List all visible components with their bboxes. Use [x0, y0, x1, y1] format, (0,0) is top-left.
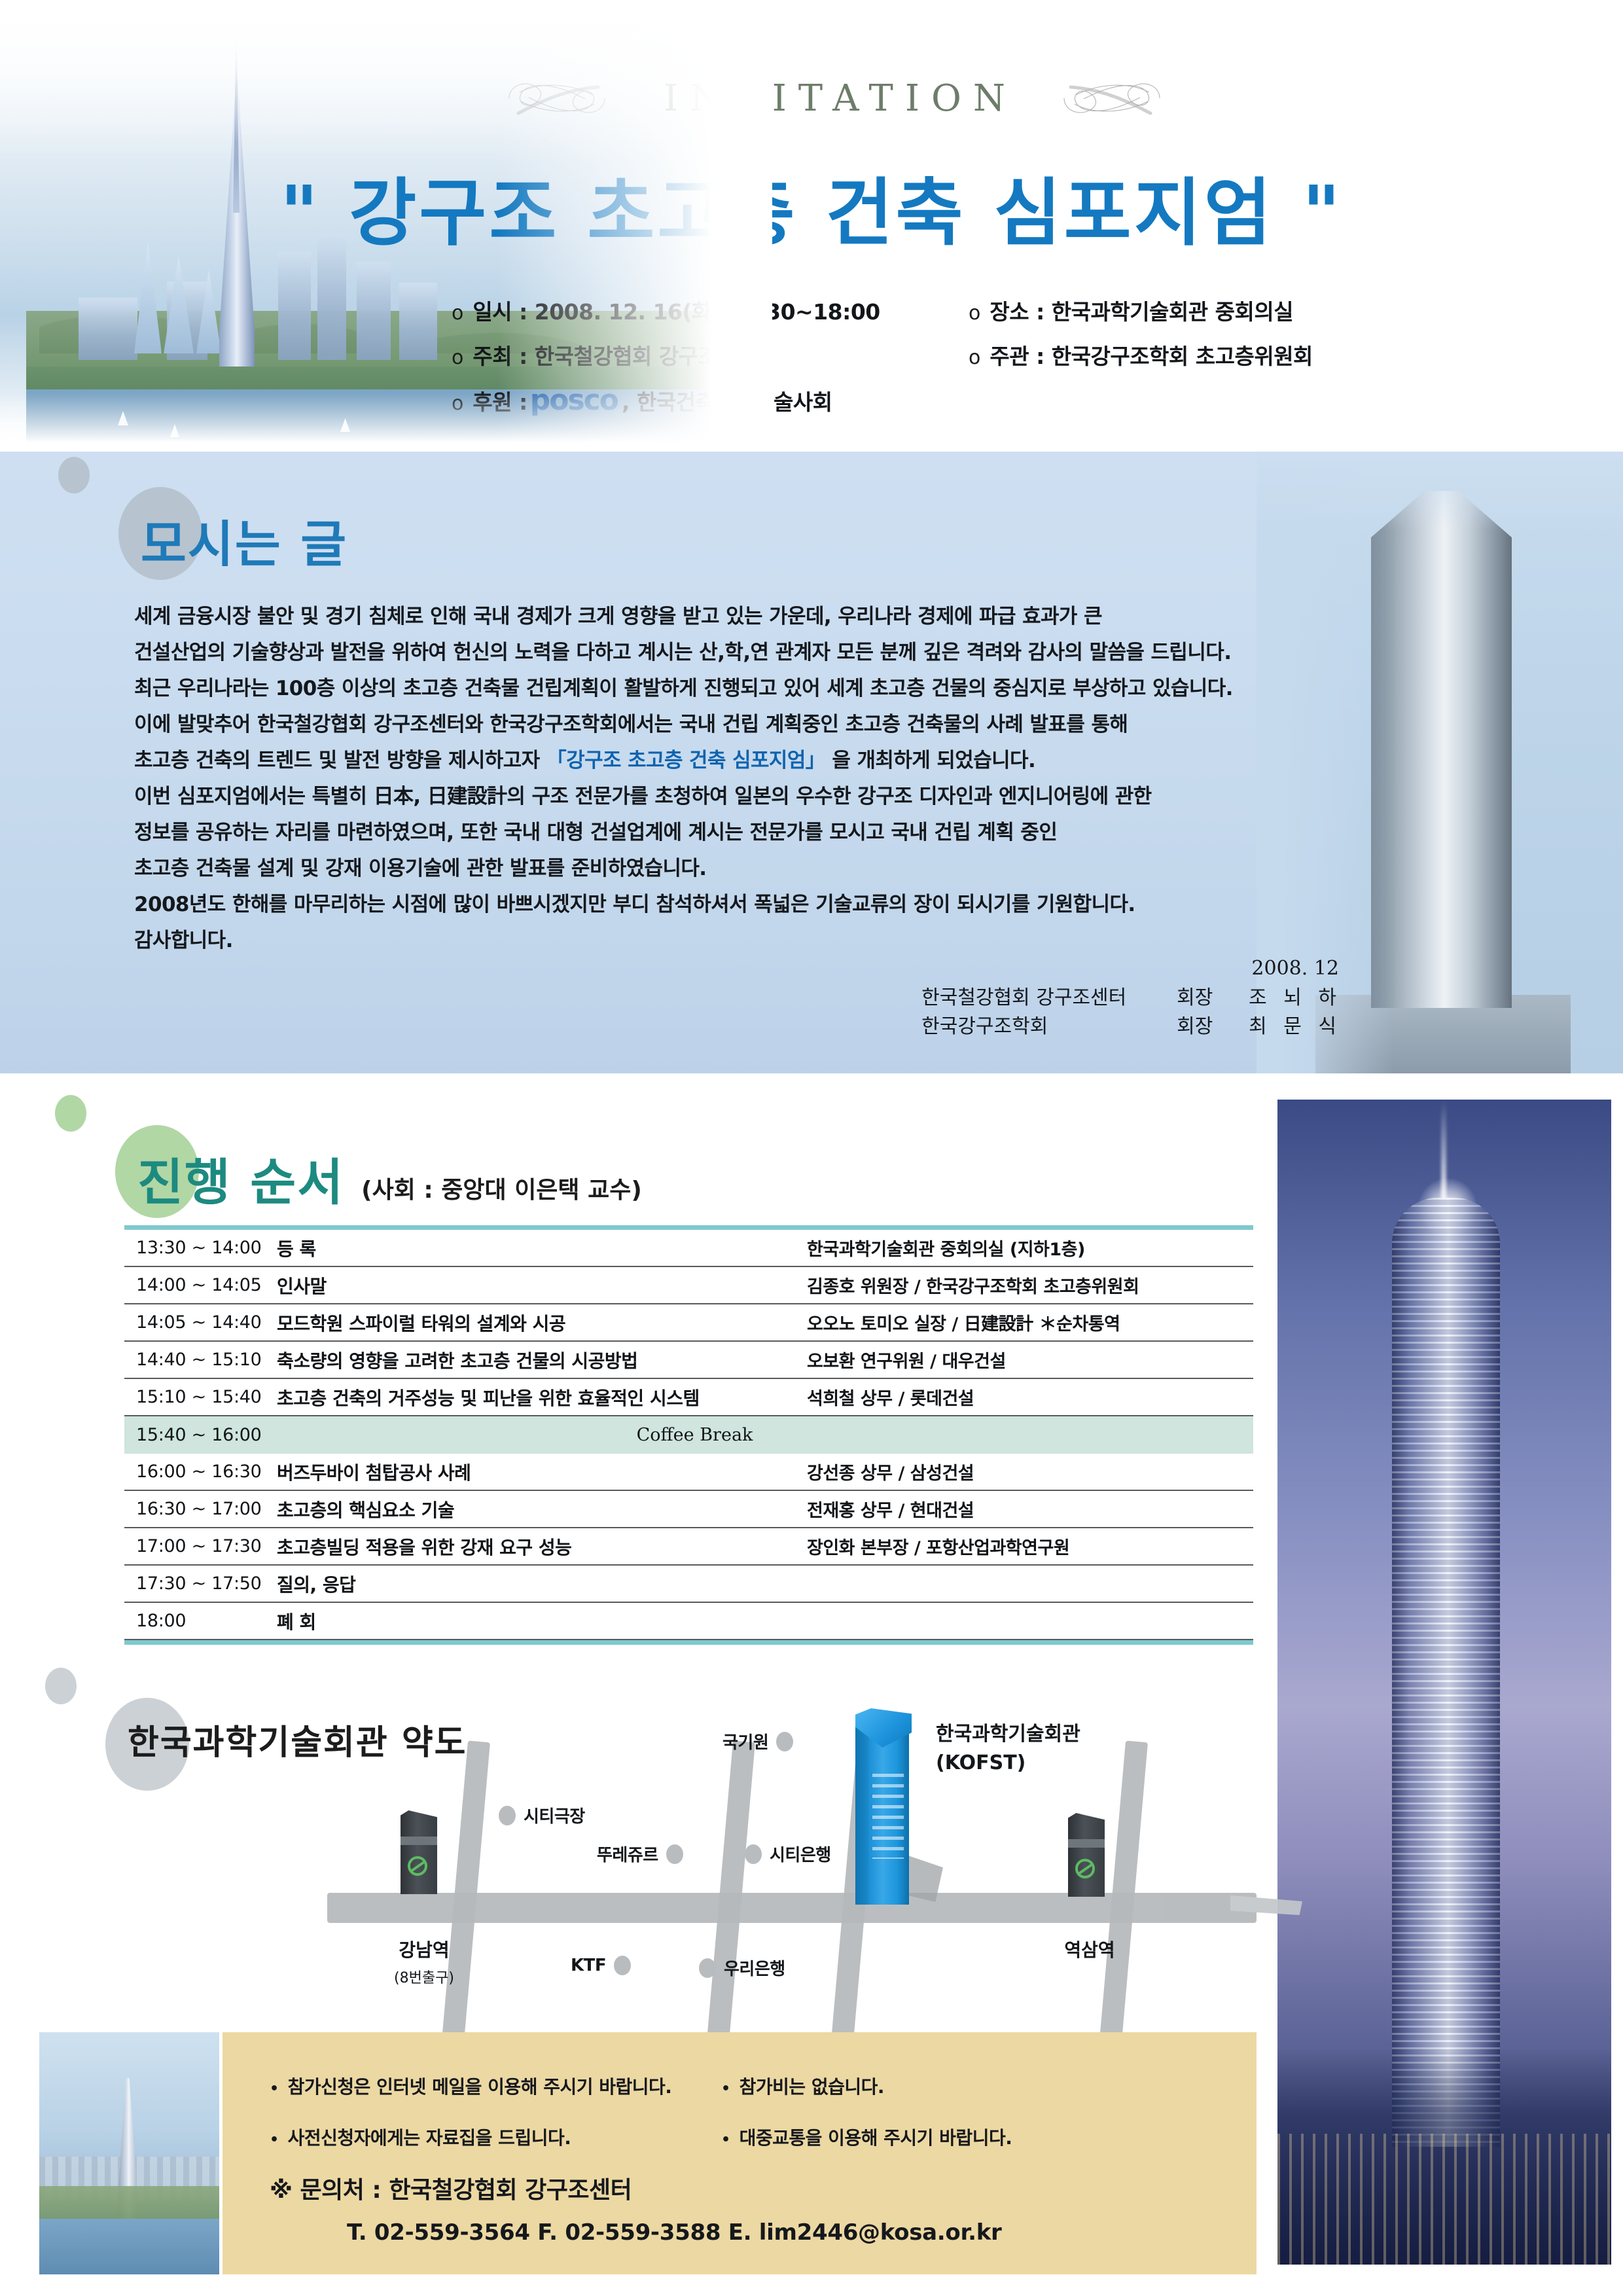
greeting-line: 정보를 공유하는 자리를 마련하였으며, 또한 국내 대형 건설업계에 계시는 … [134, 815, 1404, 851]
row-speaker: 오보환 연구위원 / 대우건설 [807, 1347, 1253, 1372]
poi-label: 우리은행 [724, 1956, 785, 1980]
footer-note-text: 참가비는 없습니다. [740, 2073, 884, 2099]
footer-note: • 사전신청자에게는 자료집을 드립니다. [270, 2124, 695, 2150]
poi-label: 국기원 [722, 1729, 768, 1753]
signature-role: 회장 [1177, 984, 1249, 1013]
table-row: 16:00 ~ 16:30 버즈두바이 첨탑공사 사례 강선종 상무 / 삼성건… [124, 1454, 1253, 1491]
greeting-line: 초고층 건축물 설계 및 강재 이용기술에 관한 발표를 준비하였습니다. [134, 851, 1404, 887]
row-speaker: 장인화 본부장 / 포항산업과학연구원 [807, 1534, 1253, 1559]
poi-dot-icon [745, 1844, 762, 1864]
greeting-heading: 모시는 글 [141, 504, 348, 576]
table-top-rule [124, 1225, 1253, 1230]
poi-dot-icon [666, 1844, 683, 1864]
station-marker-yeoksam [1068, 1813, 1105, 1897]
table-bottom-rule [124, 1640, 1253, 1645]
row-speaker: 김종호 위원장 / 한국강구조학회 초고층위원회 [807, 1272, 1253, 1298]
photo-fade-top [1257, 452, 1623, 530]
poi-city-theater: 시티극장 [499, 1803, 585, 1827]
footer-info-box: • 참가신청은 인터넷 메일을 이용해 주시기 바랍니다. • 사전신청자에게는… [223, 2032, 1257, 2274]
venue-label-kr: 한국과학기술회관 [936, 1720, 1080, 1749]
building-block [399, 283, 437, 360]
night-skyscraper [1392, 1198, 1500, 2147]
row-time: 17:30 ~ 17:50 [136, 1573, 277, 1594]
detail-organizer: o 주관 : 한국강구조학회 초고층위원회 [969, 339, 1505, 370]
table-row: 17:30 ~ 17:50 질의, 응답 [124, 1566, 1253, 1603]
station-band [401, 1837, 437, 1845]
row-topic: 질의, 응답 [277, 1571, 807, 1597]
table-row-break: 15:40 ~ 16:00 Coffee Break [124, 1416, 1253, 1454]
poi-ktf: KTF [571, 1956, 631, 1975]
building-windows [872, 1774, 904, 1859]
poster-header: INVITATION " 강구조 초고층 건축 심포지엄 " o 일시 : 20… [0, 0, 1623, 452]
row-topic: 인사말 [277, 1272, 807, 1299]
kofst-building-icon [854, 1702, 926, 1905]
contact-line: ※ 문의처 : 한국철강협회 강구조센터 [270, 2171, 632, 2205]
row-speaker: 전재홍 상무 / 현대건설 [807, 1496, 1253, 1522]
table-row: 14:40 ~ 15:10 축소량의 영향을 고려한 초고층 건물의 시공방법 … [124, 1342, 1253, 1379]
footer-note: • 참가비는 없습니다. [721, 2073, 1012, 2099]
road-vertical [707, 1740, 755, 2042]
station-pillar [401, 1810, 437, 1894]
greeting-signature-block: 2008. 12 한국철강협회 강구조센터 회장 조 뇌 하 한국강구조학회 회… [921, 957, 1342, 1041]
table-row: 15:10 ~ 15:40 초고층 건축의 거주성능 및 피난을 위한 효율적인… [124, 1379, 1253, 1416]
bullet-icon: o [452, 304, 463, 323]
city-lights-base [1277, 2049, 1611, 2265]
poi-dot-icon [776, 1732, 793, 1751]
row-topic: 초고층의 핵심요소 기술 [277, 1496, 807, 1522]
row-time: 13:30 ~ 14:00 [136, 1238, 277, 1258]
bullet-icon: • [721, 2082, 730, 2096]
station-name: 역삼역 [1064, 1939, 1115, 1961]
row-time: 14:40 ~ 15:10 [136, 1350, 277, 1370]
photo-fade-right [497, 0, 772, 452]
station-pillar [1068, 1813, 1105, 1897]
program-heading: 진행 순서 (사회 : 중앙대 이은택 교수) [137, 1142, 642, 1214]
row-topic: 축소량의 영향을 고려한 초고층 건물의 시공방법 [277, 1347, 807, 1373]
table-row: 13:30 ~ 14:00 등 록 한국과학기술회관 중회의실 (지하1층) [124, 1230, 1253, 1267]
signature-name: 조 뇌 하 [1249, 984, 1342, 1013]
footer-note-text: 대중교통을 이용해 주시기 바랍니다. [740, 2124, 1012, 2150]
venue-label: 한국과학기술회관 (KOFST) [936, 1720, 1080, 1778]
building-block [357, 262, 391, 360]
table-row: 16:30 ~ 17:00 초고층의 핵심요소 기술 전재홍 상무 / 현대건설 [124, 1491, 1253, 1528]
poi-dot-icon [699, 1958, 716, 1978]
footer-note: • 대중교통을 이용해 주시기 바랍니다. [721, 2124, 1012, 2150]
footer-thumbnail-image [39, 2032, 219, 2274]
table-row: 14:05 ~ 14:40 모드학원 스파이럴 타워의 설계와 시공 오오노 토… [124, 1304, 1253, 1342]
row-topic: 모드학원 스파이럴 타워의 설계와 시공 [277, 1310, 807, 1336]
greeting-line: 세계 금융시장 불안 및 경기 침체로 인해 국내 경제가 크게 영향을 받고 … [134, 599, 1404, 635]
map-heading: 한국과학기술회관 약도 [128, 1715, 467, 1764]
greeting-line: 이에 발맞추어 한국철강협회 강구조센터와 한국강구조학회에서는 국내 건립 계… [134, 707, 1404, 743]
table-row: 14:00 ~ 14:05 인사말 김종호 위원장 / 한국강구조학회 초고층위… [124, 1267, 1253, 1304]
venue-label-en: (KOFST) [936, 1749, 1080, 1778]
table-row: 17:00 ~ 17:30 초고층빌딩 적용을 위한 강재 요구 성능 장인화 … [124, 1528, 1253, 1566]
decorative-dot [45, 1668, 77, 1704]
greeting-body: 세계 금융시장 불안 및 경기 침체로 인해 국내 경제가 크게 영향을 받고 … [134, 599, 1404, 959]
detail-venue: o 장소 : 한국과학기술회관 중회의실 [969, 295, 1505, 326]
map-title: 한국과학기술회관 약도 [128, 1715, 467, 1764]
signature-name: 최 문 식 [1249, 1013, 1342, 1041]
poi-label: KTF [571, 1956, 606, 1975]
signature-role: 회장 [1177, 1013, 1249, 1041]
poi-tous-les-jours: 뚜레쥬르 [597, 1842, 683, 1866]
program-moderator: (사회 : 중앙대 이은택 교수) [361, 1171, 642, 1214]
station-exit: (8번출구) [365, 1966, 483, 1987]
footer-note-text: 참가신청은 인터넷 메일을 이용해 주시기 바랍니다. [288, 2073, 672, 2099]
road-vertical [442, 1740, 490, 2042]
row-time: 14:00 ~ 14:05 [136, 1275, 277, 1295]
greeting-line: 2008년도 한해를 마무리하는 시점에 많이 바쁘시겠지만 부디 참석하셔서 … [134, 887, 1404, 923]
row-topic: 버즈두바이 첨탑공사 사례 [277, 1459, 807, 1485]
footer-notes-right: • 참가비는 없습니다. • 대중교통을 이용해 주시기 바랍니다. [721, 2073, 1012, 2150]
bullet-icon: o [452, 348, 463, 368]
symposium-name-highlight: 「강구조 초고층 건축 심포지엄」 [546, 749, 825, 772]
signature-org: 한국강구조학회 [921, 1013, 1177, 1041]
schedule-table: 13:30 ~ 14:00 등 록 한국과학기술회관 중회의실 (지하1층) 1… [124, 1225, 1253, 1645]
signature-row: 한국철강협회 강구조센터 회장 조 뇌 하 [921, 984, 1342, 1013]
night-tower-image [1277, 1100, 1611, 2265]
building-block [278, 252, 311, 360]
row-topic: 초고층빌딩 적용을 위한 강재 요구 성능 [277, 1534, 807, 1560]
poi-citibank: 시티은행 [745, 1842, 831, 1866]
subway-logo-icon [1075, 1859, 1095, 1878]
poi-woori-bank: 우리은행 [699, 1956, 785, 1980]
greeting-line-highlighted: 초고층 건축의 트렌드 및 발전 방향을 제시하고자 「강구조 초고층 건축 심… [134, 743, 1404, 779]
poi-label: 시티극장 [524, 1803, 585, 1827]
row-time: 17:00 ~ 17:30 [136, 1536, 277, 1556]
photo-fade-bottom [0, 393, 772, 452]
row-topic: 등 록 [277, 1235, 807, 1261]
row-time: 16:30 ~ 17:00 [136, 1499, 277, 1519]
bullet-icon: o [969, 348, 980, 368]
bullet-icon: • [270, 2082, 279, 2096]
row-speaker: 강선종 상무 / 삼성건설 [807, 1459, 1253, 1484]
greeting-title: 모시는 글 [141, 504, 348, 576]
row-topic: 초고층 건축의 거주성능 및 피난을 위한 효율적인 시스템 [277, 1384, 807, 1410]
poi-dot-icon [499, 1806, 516, 1825]
poi-gukgiwon: 국기원 [722, 1729, 793, 1753]
contact-tel-line[interactable]: T. 02-559-3564 F. 02-559-3588 E. lim2446… [347, 2219, 1001, 2246]
row-speaker: 오오노 토미오 실장 / 日建設計 ＊순차통역 [807, 1310, 1253, 1335]
signature-date: 2008. 12 [921, 957, 1342, 980]
greeting-line: 감사합니다. [134, 923, 1404, 959]
poi-label: 뚜레쥬르 [597, 1842, 658, 1866]
greeting-line: 최근 우리나라는 100층 이상의 초고층 건축물 건립계획이 활발하게 진행되… [134, 671, 1404, 707]
footer-note-text: 사전신청자에게는 자료집을 드립니다. [288, 2124, 571, 2150]
poi-dot-icon [614, 1956, 631, 1975]
page-title: " 강구조 초고층 건축 심포지엄 " [0, 154, 1623, 260]
bullet-icon: • [721, 2133, 730, 2147]
station-label-yeoksam: 역삼역 [1034, 1936, 1145, 1962]
row-time: 14:05 ~ 14:40 [136, 1312, 277, 1333]
thumbnail-water [39, 2219, 219, 2274]
invitation-poster: INVITATION " 강구조 초고층 건축 심포지엄 " o 일시 : 20… [0, 0, 1623, 2296]
row-speaker: 석희철 상무 / 롯데건설 [807, 1384, 1253, 1410]
detail-venue-text: 장소 : 한국과학기술회관 중회의실 [990, 295, 1293, 326]
station-name: 강남역 [399, 1939, 449, 1961]
row-topic: Coffee Break [136, 1425, 1253, 1445]
footer-note: • 참가신청은 인터넷 메일을 이용해 주시기 바랍니다. [270, 2073, 695, 2099]
station-marker-gangnam [401, 1810, 437, 1894]
subway-logo-icon [408, 1856, 427, 1876]
bullet-icon: • [270, 2133, 279, 2147]
detail-organizer-text: 주관 : 한국강구조학회 초고층위원회 [990, 339, 1313, 370]
signature-row: 한국강구조학회 회장 최 문 식 [921, 1013, 1342, 1041]
poi-label: 시티은행 [770, 1842, 831, 1866]
flourish-ornament-right [1056, 73, 1168, 124]
signature-org: 한국철강협회 강구조센터 [921, 984, 1177, 1013]
row-time: 18:00 [136, 1611, 277, 1631]
station-band [1068, 1839, 1105, 1848]
building-block [79, 298, 137, 360]
greeting-line: 건설산업의 기술향상과 발전을 위하여 헌신의 노력을 다하고 계시는 산,학,… [134, 635, 1404, 671]
greeting-line: 이번 심포지엄에서는 특별히 日本, 日建設計의 구조 전문가를 초청하여 일본… [134, 779, 1404, 815]
footer-notes-left: • 참가신청은 인터넷 메일을 이용해 주시기 바랍니다. • 사전신청자에게는… [270, 2073, 695, 2150]
footer-notes: • 참가신청은 인터넷 메일을 이용해 주시기 바랍니다. • 사전신청자에게는… [270, 2073, 1012, 2150]
row-time: 16:00 ~ 16:30 [136, 1462, 277, 1482]
station-label-gangnam: 강남역 (8번출구) [365, 1936, 483, 1987]
row-topic: 폐 회 [277, 1608, 807, 1634]
bullet-icon: o [969, 304, 980, 323]
row-time: 15:10 ~ 15:40 [136, 1387, 277, 1407]
decorative-dot [55, 1095, 86, 1132]
road-vertical [1099, 1740, 1148, 2042]
greeting-line-post: 을 개최하게 되었습니다. [825, 749, 1035, 772]
program-title: 진행 순서 [137, 1142, 344, 1214]
greeting-line-pre: 초고층 건축의 트렌드 및 발전 방향을 제시하고자 [134, 749, 546, 772]
decorative-dot [58, 457, 90, 493]
row-speaker: 한국과학기술회관 중회의실 (지하1층) [807, 1235, 1253, 1261]
table-row: 18:00 폐 회 [124, 1603, 1253, 1640]
